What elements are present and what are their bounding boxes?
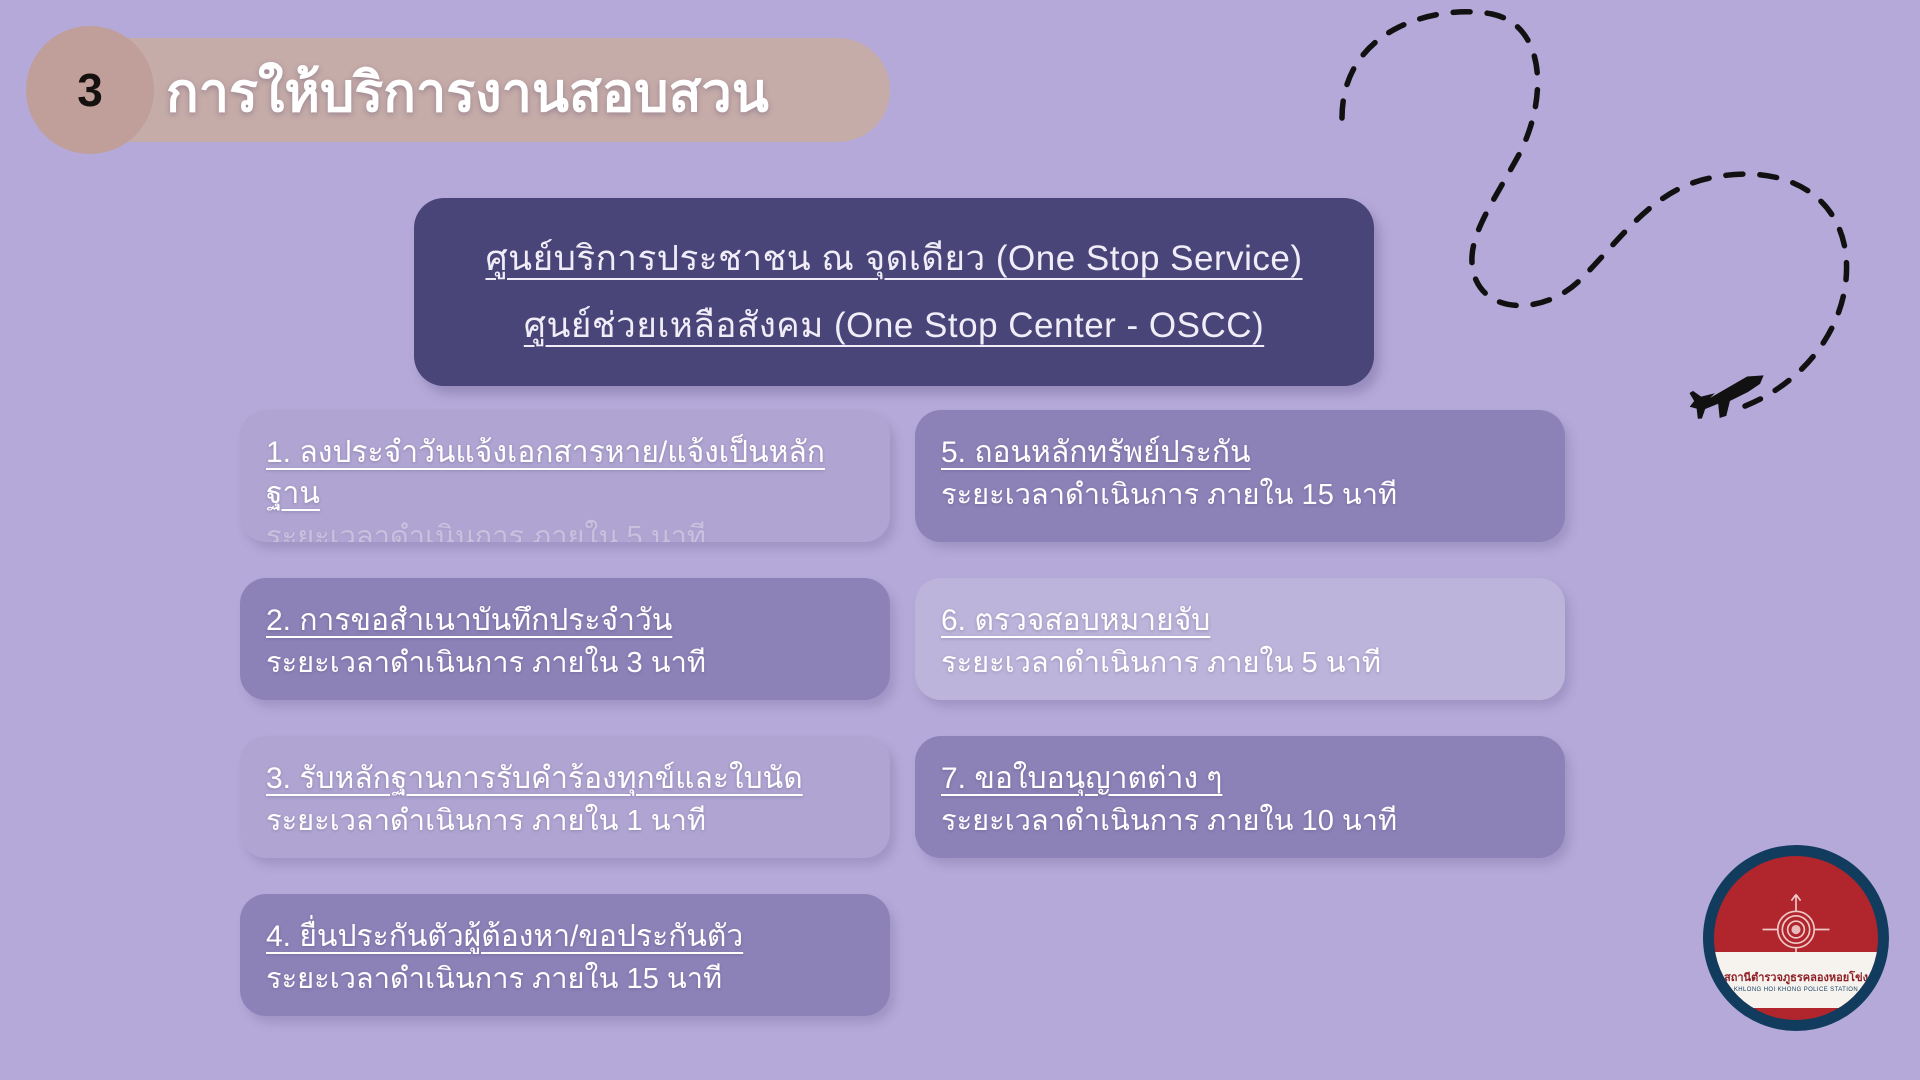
service-card-duration: ระยะเวลาดำเนินการ ภายใน 15 นาที [941,475,1539,516]
service-card[interactable]: 4. ยื่นประกันตัวผู้ต้องหา/ขอประกันตัวระย… [240,894,890,1016]
service-card-title: 6. ตรวจสอบหมายจับ [941,600,1539,641]
section-number: 3 [26,26,154,154]
flight-path-decoration [1280,0,1920,460]
police-station-emblem: สถานีตำรวจภูธรคลองหอยโข่ง KHLONG HOI KHO… [1703,845,1889,1031]
service-card-title: 3. รับหลักฐานการรับคำร้องทุกข์และใบนัด [266,758,864,799]
emblem-red-field: สถานีตำรวจภูธรคลองหอยโข่ง KHLONG HOI KHO… [1714,856,1878,1020]
service-card[interactable]: 3. รับหลักฐานการรับคำร้องทุกข์และใบนัดระ… [240,736,890,858]
service-card-duration: ระยะเวลาดำเนินการ ภายใน 5 นาที [266,517,864,542]
service-card-title: 2. การขอสำเนาบันทึกประจำวัน [266,600,864,641]
service-card-title: 4. ยื่นประกันตัวผู้ต้องหา/ขอประกันตัว [266,916,864,957]
service-card[interactable]: 1. ลงประจำวันแจ้งเอกสารหาย/แจ้งเป็นหลักฐ… [240,410,890,542]
heading-line-one: ศูนย์บริการประชาชน ณ จุดเดียว (One Stop … [485,231,1302,286]
service-list-left: 1. ลงประจำวันแจ้งเอกสารหาย/แจ้งเป็นหลักฐ… [240,410,890,1052]
service-card-title: 7. ขอใบอนุญาตต่าง ๆ [941,758,1539,799]
heading-line-two: ศูนย์ช่วยเหลือสังคม (One Stop Center - O… [524,298,1264,353]
slide-root: 3 การให้บริการงานสอบสวน ศูนย์บริการประชา… [0,0,1920,1080]
service-card[interactable]: 5. ถอนหลักทรัพย์ประกันระยะเวลาดำเนินการ … [915,410,1565,542]
emblem-name-english: KHLONG HOI KHONG POLICE STATION [1734,987,1858,993]
service-card-duration: ระยะเวลาดำเนินการ ภายใน 5 นาที [941,643,1539,684]
service-card[interactable]: 2. การขอสำเนาบันทึกประจำวันระยะเวลาดำเนิ… [240,578,890,700]
heading-panel: ศูนย์บริการประชาชน ณ จุดเดียว (One Stop … [414,198,1374,386]
emblem-name-thai: สถานีตำรวจภูธรคลองหอยโข่ง [1724,968,1868,986]
service-card-title: 5. ถอนหลักทรัพย์ประกัน [941,432,1539,473]
airplane-icon [1685,369,1772,426]
service-card-title: 1. ลงประจำวันแจ้งเอกสารหาย/แจ้งเป็นหลักฐ… [266,432,864,515]
service-card[interactable]: 6. ตรวจสอบหมายจับระยะเวลาดำเนินการ ภายใน… [915,578,1565,700]
service-card-duration: ระยะเวลาดำเนินการ ภายใน 15 นาที [266,959,864,1000]
page-title: การให้บริการงานสอบสวน [166,46,769,138]
service-list-right: 5. ถอนหลักทรัพย์ประกันระยะเวลาดำเนินการ … [915,410,1565,894]
service-card-duration: ระยะเวลาดำเนินการ ภายใน 3 นาที [266,643,864,684]
service-card-duration: ระยะเวลาดำเนินการ ภายใน 1 นาที [266,801,864,842]
dashed-flight-path-icon [1280,0,1920,460]
service-card[interactable]: 7. ขอใบอนุญาตต่าง ๆระยะเวลาดำเนินการ ภาย… [915,736,1565,858]
emblem-name-band: สถานีตำรวจภูธรคลองหอยโข่ง KHLONG HOI KHO… [1714,952,1878,1008]
service-card-duration: ระยะเวลาดำเนินการ ภายใน 10 นาที [941,801,1539,842]
